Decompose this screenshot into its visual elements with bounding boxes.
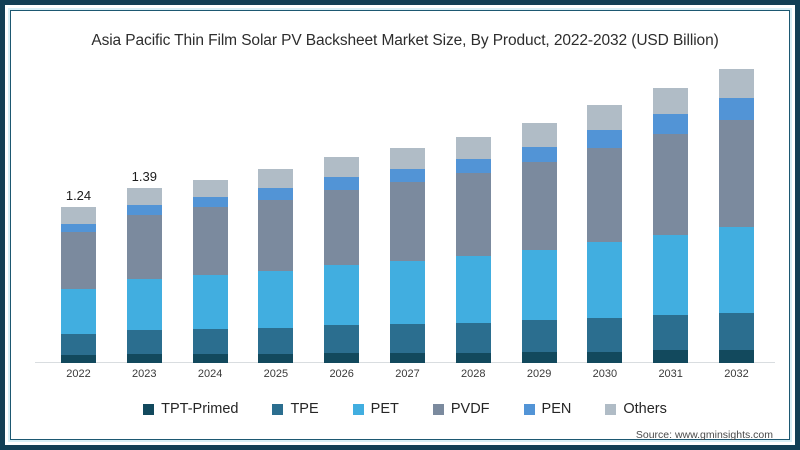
stacked-bar[interactable] — [390, 148, 425, 363]
bar-segment-pvdf[interactable] — [258, 200, 293, 272]
legend-swatch-icon — [272, 404, 283, 415]
bar-segment-pvdf[interactable] — [587, 148, 622, 242]
legend-label: TPT-Primed — [161, 401, 238, 417]
x-axis-tick-label: 2030 — [587, 368, 622, 380]
legend-item-pvdf[interactable]: PVDF — [433, 401, 490, 417]
stacked-bar[interactable] — [456, 137, 491, 363]
plot-area: 1.241.39 — [35, 55, 775, 363]
bar-segment-tpe[interactable] — [61, 334, 96, 355]
bar-group — [719, 55, 754, 363]
bar-segment-pen[interactable] — [587, 130, 622, 148]
bar-segment-pen[interactable] — [127, 205, 162, 215]
bar-group: 1.24 — [61, 55, 96, 363]
bar-segment-others[interactable] — [390, 148, 425, 169]
chart-legend: TPT-PrimedTPEPETPVDFPENOthers — [5, 401, 800, 417]
bar-segment-pvdf[interactable] — [390, 182, 425, 261]
bar-group — [522, 55, 557, 363]
bar-group — [324, 55, 359, 363]
chart-title: Asia Pacific Thin Film Solar PV Backshee… — [5, 32, 800, 50]
stacked-bar[interactable] — [258, 169, 293, 363]
bar-segment-pet[interactable] — [653, 235, 688, 315]
x-axis-tick-label: 2025 — [258, 368, 293, 380]
x-axis-tick-label: 2023 — [127, 368, 162, 380]
bar-segment-tpt-primed[interactable] — [127, 354, 162, 363]
bar-segment-pet[interactable] — [324, 265, 359, 325]
bar-segment-others[interactable] — [456, 137, 491, 160]
bar-segment-pvdf[interactable] — [653, 134, 688, 235]
bar-segment-tpt-primed[interactable] — [324, 353, 359, 363]
bar-segment-tpe[interactable] — [719, 313, 754, 351]
bar-segment-tpt-primed[interactable] — [258, 354, 293, 363]
legend-swatch-icon — [433, 404, 444, 415]
stacked-bar[interactable] — [127, 188, 162, 363]
bar-segment-pen[interactable] — [61, 224, 96, 233]
bar-segment-pvdf[interactable] — [61, 232, 96, 289]
stacked-bar[interactable] — [587, 105, 622, 363]
bar-segment-pvdf[interactable] — [127, 215, 162, 279]
stacked-bar[interactable] — [193, 179, 228, 363]
bar-segment-pvdf[interactable] — [193, 207, 228, 275]
bar-segment-others[interactable] — [719, 69, 754, 98]
x-axis-tick-label: 2032 — [719, 368, 754, 380]
bar-segment-pen[interactable] — [193, 197, 228, 207]
chart-frame: Asia Pacific Thin Film Solar PV Backshee… — [0, 0, 800, 450]
stacked-bar[interactable] — [653, 88, 688, 363]
bar-segment-tpe[interactable] — [653, 315, 688, 350]
bar-group — [193, 55, 228, 363]
legend-swatch-icon — [353, 404, 364, 415]
bar-segment-others[interactable] — [193, 180, 228, 198]
bar-segment-tpe[interactable] — [258, 328, 293, 354]
x-axis-tick-label: 2027 — [390, 368, 425, 380]
bar-segment-pet[interactable] — [127, 279, 162, 331]
bar-segment-tpt-primed[interactable] — [61, 355, 96, 363]
bar-segment-pvdf[interactable] — [522, 162, 557, 250]
legend-swatch-icon — [143, 404, 154, 415]
bar-segment-pen[interactable] — [653, 114, 688, 134]
stacked-bar[interactable] — [719, 69, 754, 363]
legend-item-others[interactable]: Others — [605, 401, 667, 417]
bar-segment-tpt-primed[interactable] — [390, 353, 425, 363]
bar-segment-others[interactable] — [587, 105, 622, 130]
bar-segment-pet[interactable] — [587, 242, 622, 317]
bar-segment-others[interactable] — [127, 188, 162, 204]
x-axis-tick-label: 2029 — [522, 368, 557, 380]
legend-swatch-icon — [524, 404, 535, 415]
bar-segment-tpe[interactable] — [127, 330, 162, 354]
bar-segment-tpe[interactable] — [456, 323, 491, 353]
stacked-bar[interactable] — [522, 123, 557, 363]
source-attribution: Source: www.gminsights.com — [636, 429, 773, 441]
legend-label: Others — [623, 401, 667, 417]
bar-group — [587, 55, 622, 363]
legend-swatch-icon — [605, 404, 616, 415]
legend-label: PET — [371, 401, 399, 417]
legend-item-pet[interactable]: PET — [353, 401, 399, 417]
bar-segment-tpt-primed[interactable] — [193, 354, 228, 363]
legend-item-tpe[interactable]: TPE — [272, 401, 318, 417]
legend-label: TPE — [290, 401, 318, 417]
bar-segment-pet[interactable] — [522, 250, 557, 320]
bar-segment-others[interactable] — [653, 88, 688, 114]
bar-segment-others[interactable] — [61, 207, 96, 223]
bar-segment-pen[interactable] — [456, 159, 491, 173]
bar-segment-tpt-primed[interactable] — [587, 352, 622, 363]
bar-segment-tpt-primed[interactable] — [653, 350, 688, 363]
bar-value-label: 1.39 — [132, 169, 157, 184]
bar-segment-pen[interactable] — [324, 177, 359, 190]
bar-segment-others[interactable] — [258, 169, 293, 188]
bar-segment-tpe[interactable] — [324, 325, 359, 353]
bar-segment-pet[interactable] — [258, 271, 293, 328]
legend-item-pen[interactable]: PEN — [524, 401, 572, 417]
x-axis-tick-label: 2026 — [324, 368, 359, 380]
bar-segment-pet[interactable] — [193, 275, 228, 329]
legend-label: PEN — [542, 401, 572, 417]
bar-segment-pet[interactable] — [61, 289, 96, 334]
bar-segment-tpe[interactable] — [390, 324, 425, 353]
bar-group — [258, 55, 293, 363]
bar-segment-pvdf[interactable] — [719, 120, 754, 227]
chart-canvas: Asia Pacific Thin Film Solar PV Backshee… — [5, 5, 800, 450]
bar-segment-pvdf[interactable] — [456, 173, 491, 256]
stacked-bar[interactable] — [61, 207, 96, 363]
bar-segment-tpe[interactable] — [522, 320, 557, 351]
bar-segment-pvdf[interactable] — [324, 190, 359, 265]
x-axis-tick-label: 2031 — [653, 368, 688, 380]
bar-group — [653, 55, 688, 363]
bar-segment-others[interactable] — [522, 123, 557, 147]
bar-segment-pen[interactable] — [390, 169, 425, 182]
bar-segment-tpe[interactable] — [193, 329, 228, 354]
bar-group — [390, 55, 425, 363]
bar-segment-pet[interactable] — [390, 261, 425, 324]
legend-label: PVDF — [451, 401, 490, 417]
bar-segment-tpe[interactable] — [587, 318, 622, 352]
x-axis-tick-label: 2028 — [456, 368, 491, 380]
bar-segment-tpt-primed[interactable] — [719, 350, 754, 363]
bar-group: 1.39 — [127, 55, 162, 363]
x-axis-tick-label: 2024 — [193, 368, 228, 380]
bar-segment-pet[interactable] — [456, 256, 491, 323]
bar-segment-pen[interactable] — [719, 98, 754, 121]
bar-segment-pet[interactable] — [719, 227, 754, 312]
bar-value-label: 1.24 — [66, 188, 91, 203]
bar-segment-tpt-primed[interactable] — [456, 353, 491, 363]
bar-segment-pen[interactable] — [258, 188, 293, 199]
legend-item-tpt-primed[interactable]: TPT-Primed — [143, 401, 238, 417]
bar-segment-pen[interactable] — [522, 147, 557, 162]
x-axis-tick-label: 2022 — [61, 368, 96, 380]
bar-segment-others[interactable] — [324, 157, 359, 177]
bar-group — [456, 55, 491, 363]
stacked-bar[interactable] — [324, 157, 359, 363]
bar-segment-tpt-primed[interactable] — [522, 352, 557, 363]
